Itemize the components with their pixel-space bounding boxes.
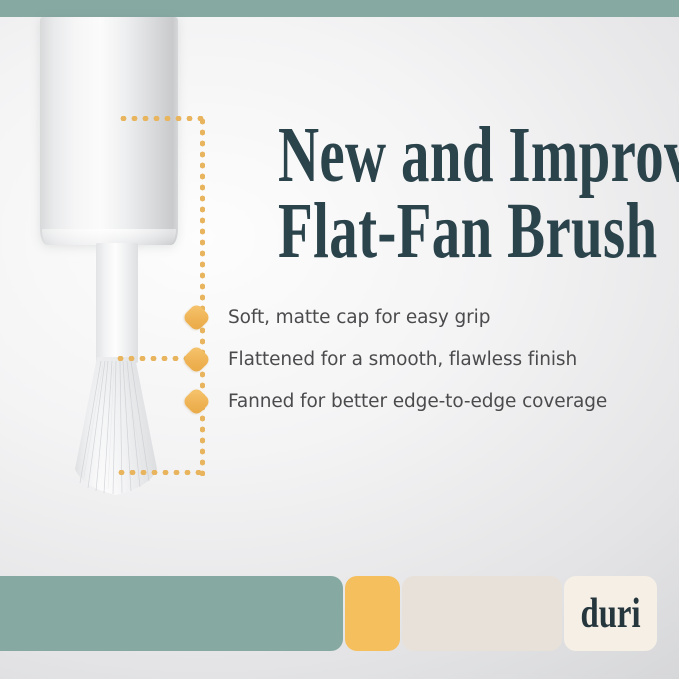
- bullet-text: Soft, matte cap for easy grip: [228, 307, 490, 328]
- top-accent-strip: [0, 0, 679, 17]
- bullet-text: Flattened for a smooth, flawless finish: [228, 349, 577, 370]
- feature-bullet-list: Soft, matte cap for easy grip Flattened …: [186, 296, 656, 422]
- brush-handle: [96, 243, 138, 363]
- brand-logo-tile: duri: [564, 576, 657, 651]
- product-feature-poster: New and Improved Flat-Fan Brush Soft, ma…: [0, 0, 679, 679]
- flat-fan-brush-bristles: [56, 357, 176, 499]
- connector-dotted-line-top: [118, 116, 206, 121]
- list-item: Soft, matte cap for easy grip: [186, 296, 656, 338]
- headline-line-2: Flat-Fan Brush: [278, 194, 559, 270]
- color-segment-sage: [0, 576, 343, 651]
- diamond-bullet-icon: [182, 344, 212, 374]
- diamond-bullet-icon: [182, 386, 212, 416]
- product-image-group: [0, 17, 230, 497]
- bottom-color-bar: duri: [0, 576, 679, 651]
- color-segment-beige: [402, 576, 562, 651]
- list-item: Flattened for a smooth, flawless finish: [186, 338, 656, 380]
- brand-logo-text: duri: [580, 593, 640, 635]
- list-item: Fanned for better edge-to-edge coverage: [186, 380, 656, 422]
- nail-polish-cap: [40, 17, 178, 245]
- headline-line-1: New and Improved: [278, 118, 559, 194]
- color-segment-amber: [345, 576, 400, 651]
- connector-dotted-line-bottom: [116, 470, 206, 475]
- bullet-text: Fanned for better edge-to-edge coverage: [228, 391, 607, 412]
- headline: New and Improved Flat-Fan Brush: [278, 118, 559, 270]
- diamond-bullet-icon: [182, 302, 212, 332]
